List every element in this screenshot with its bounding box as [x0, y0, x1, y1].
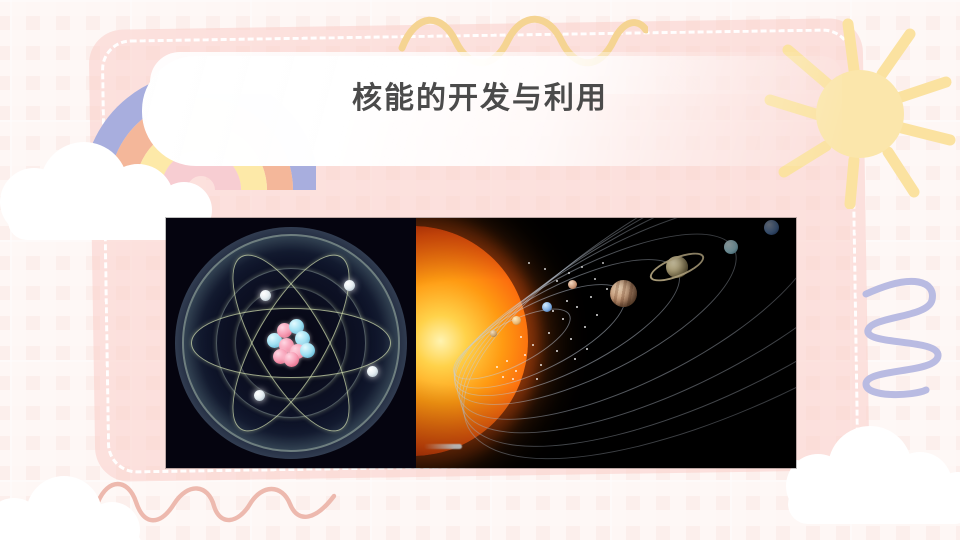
planet-mercury	[490, 330, 497, 337]
planet-venus	[512, 316, 521, 325]
electron-particle-1	[344, 280, 355, 291]
cloud-icon-bottom-left	[0, 476, 160, 540]
electron-particle-3	[367, 366, 378, 377]
electron-particle-4	[254, 390, 265, 401]
planet-uranus	[724, 240, 738, 254]
planet-jupiter	[610, 280, 637, 307]
zigzag-scribble-icon	[862, 276, 960, 416]
page-title: 核能的开发与利用	[0, 80, 960, 118]
planet-neptune	[764, 220, 779, 235]
comet-streak	[424, 444, 462, 449]
planet-mars	[568, 280, 577, 289]
atom-nucleus	[265, 319, 317, 367]
solar-system-diagram	[416, 218, 796, 468]
electron-particle-2	[260, 290, 271, 301]
main-figure-image	[166, 218, 796, 468]
atom-diagram	[166, 218, 416, 468]
planet-earth	[542, 302, 552, 312]
slide-canvas: 核能的开发与利用	[0, 0, 960, 540]
